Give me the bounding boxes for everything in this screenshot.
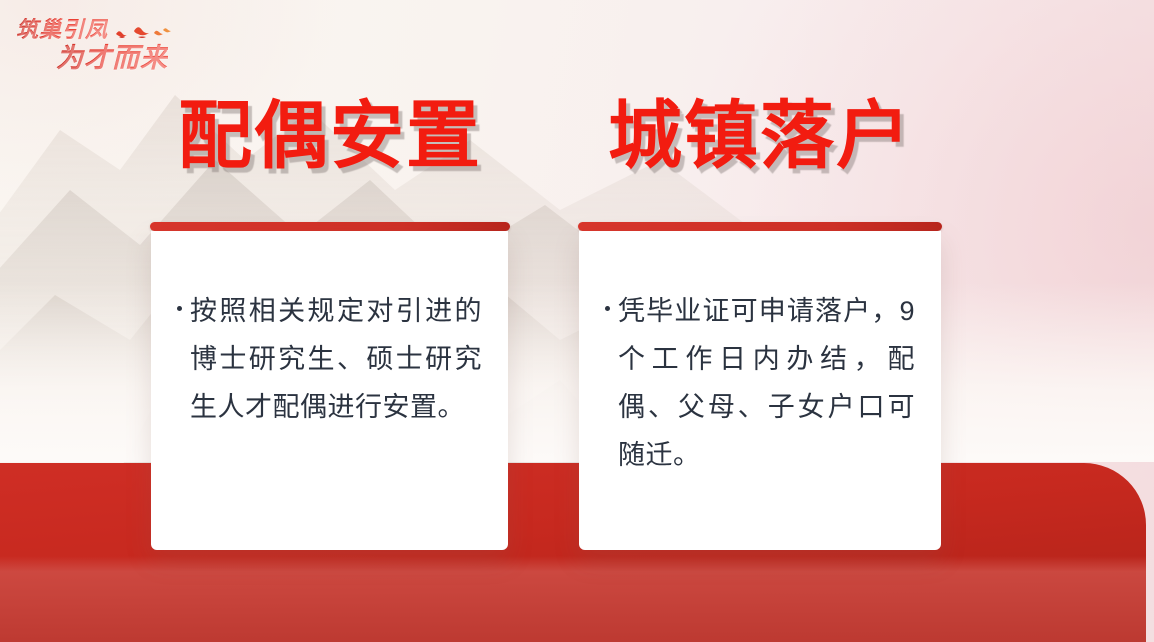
column-heading-spouse: 配偶安置 — [178, 96, 482, 176]
card-top-accent-bar — [150, 222, 510, 231]
card-body-residence: 凭毕业证可申请落户，9个工作日内办结，配偶、父母、子女户口可随迁。 — [579, 231, 941, 550]
card-body-spouse: 按照相关规定对引进的博士研究生、硕士研究生人才配偶进行安置。 — [151, 231, 508, 550]
presentation-slide: 筑巢引凤 为才而来 配偶安置 城镇落户 按照相关规定对引进的博士研究生、硕士研究… — [0, 0, 1154, 642]
card-top-accent-bar — [578, 222, 942, 231]
flying-birds-icon — [110, 20, 174, 44]
list-item: 按照相关规定对引进的博士研究生、硕士研究生人才配偶进行安置。 — [177, 287, 482, 431]
column-heading-residence: 城镇落户 — [608, 96, 912, 176]
bullet-dot-icon — [605, 306, 610, 311]
bullet-text-spouse: 按照相关规定对引进的博士研究生、硕士研究生人才配偶进行安置。 — [190, 287, 482, 431]
brand-logo: 筑巢引凤 为才而来 — [14, 12, 194, 70]
list-item: 凭毕业证可申请落户，9个工作日内办结，配偶、父母、子女户口可随迁。 — [605, 287, 915, 479]
bullet-dot-icon — [177, 306, 182, 311]
bullet-text-residence: 凭毕业证可申请落户，9个工作日内办结，配偶、父母、子女户口可随迁。 — [618, 287, 915, 479]
